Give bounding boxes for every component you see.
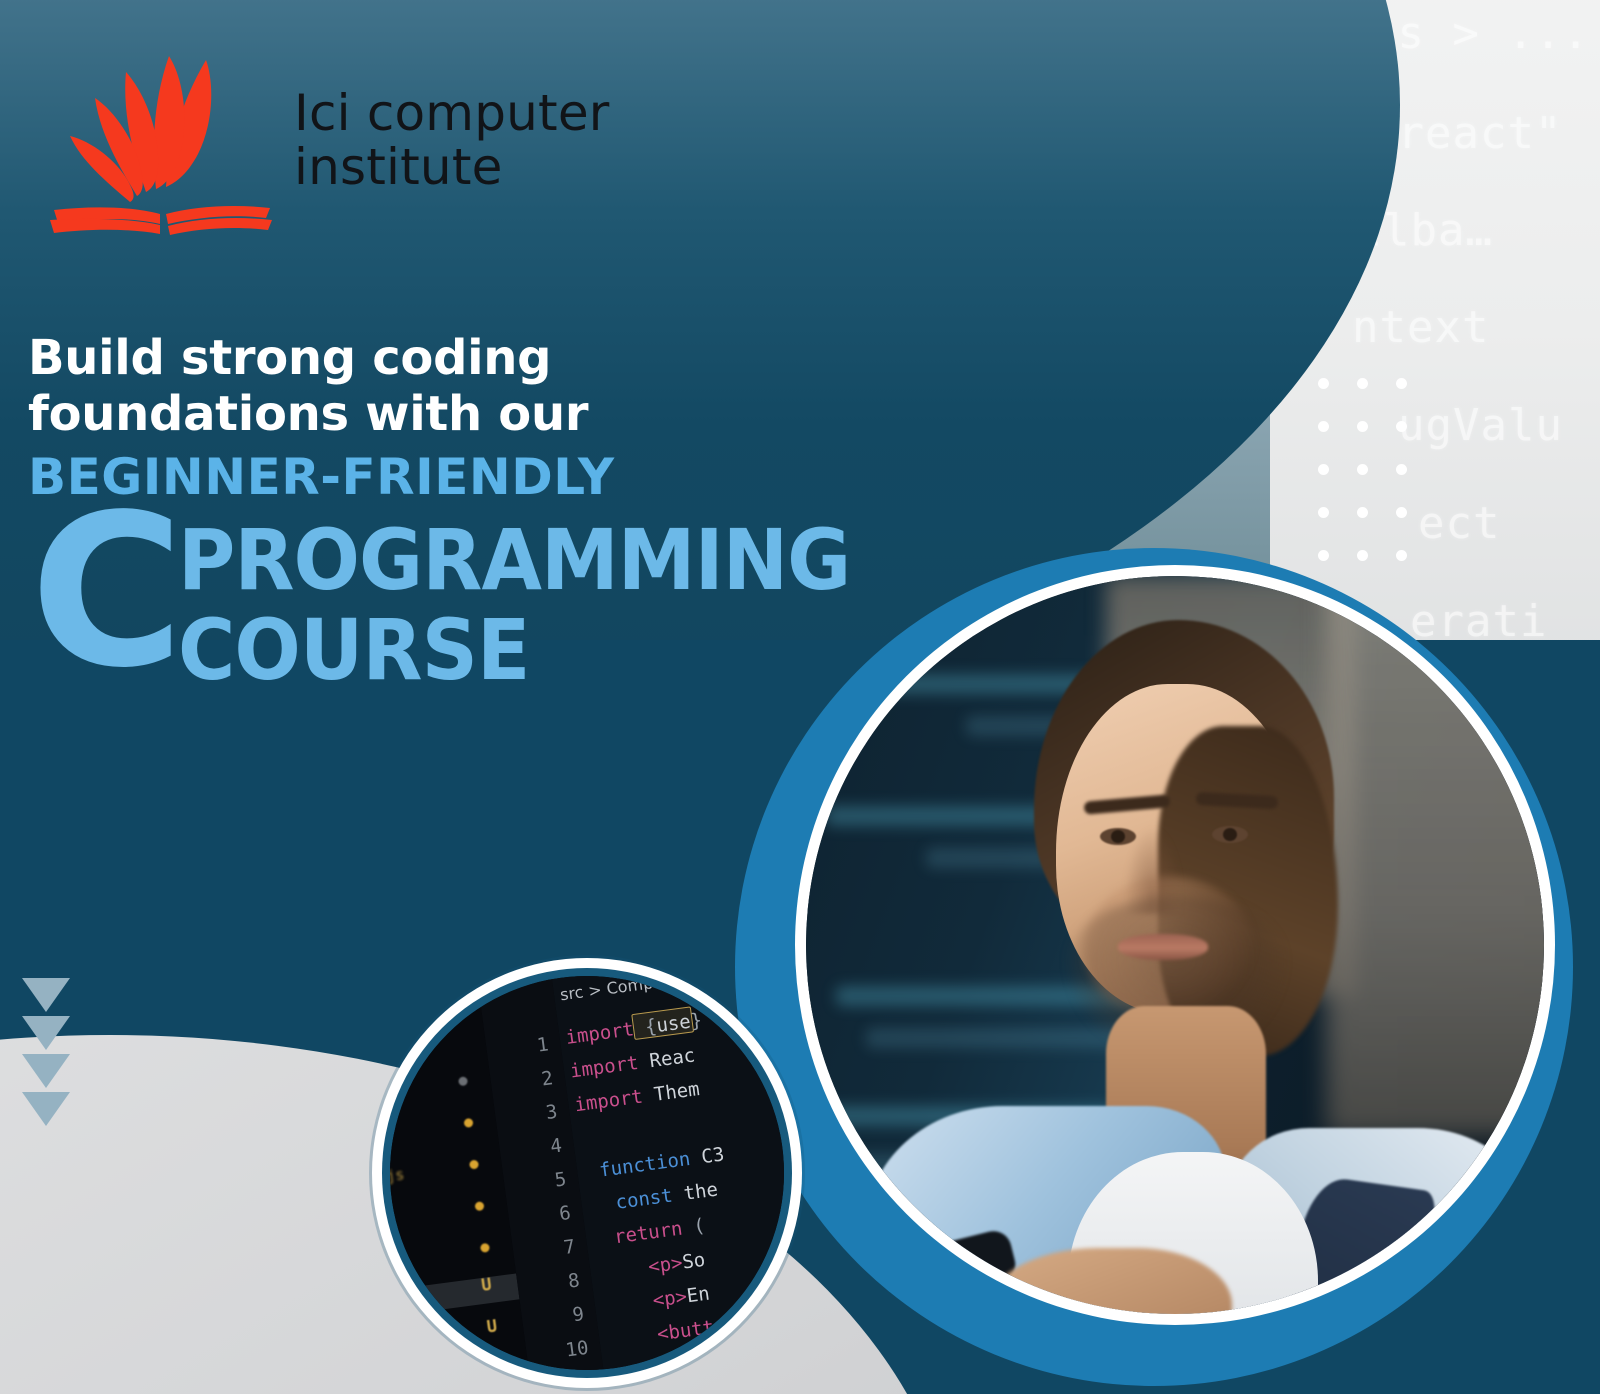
dot-grid-dot [1318,464,1329,475]
editor-breadcrumb[interactable]: src > Components > C3 > [559,976,771,1004]
brand-name-line2: institute [294,140,610,194]
code-line-6: const the [614,1179,719,1214]
bg-code-line-4: ntext [1352,302,1489,353]
book-flame-logo-icon [38,42,288,237]
chevron-down-arrow [22,1092,70,1126]
poster-canvas: dex.js > ... "react" allba… ntext ugValu… [0,0,1600,1394]
dot-grid-dot [1396,421,1407,432]
line-number-6: 6 [558,1202,572,1225]
course-title-word-2: COURSE [178,606,850,696]
dot-grid-dot [1357,550,1368,561]
line-number-8: 8 [567,1269,581,1292]
headline-line-1: Build strong coding [28,330,615,386]
course-title-block: C PROGRAMMING COURSE [30,508,901,696]
code-line-5: function C3 [598,1143,726,1181]
line-number-4: 4 [549,1135,563,1158]
brand-name: Ici computer institute [294,86,610,194]
dot-grid-dot [1318,421,1329,432]
dot-grid-dot [1396,550,1407,561]
headline-line-2: foundations with our [28,386,615,442]
course-title-letter: C [30,508,174,676]
bg-code-line-6: ect [1418,498,1500,549]
brand-logo: Ici computer institute [38,42,610,237]
course-title-word-1: PROGRAMMING [178,516,850,606]
code-line-1: import {use} from [564,1002,760,1049]
dot-grid-dot [1396,378,1407,389]
code-line-9: <p>So [647,1249,707,1278]
dot-grid-dot [1318,550,1329,561]
line-number-9: 9 [571,1303,585,1326]
dot-grid-dot [1357,464,1368,475]
dot-grid-dot [1318,507,1329,518]
line-number-1: 1 [536,1033,550,1056]
brand-name-line1: Ici computer [294,86,610,140]
dot-grid-dot [1357,507,1368,518]
photo-person-mouth [1118,934,1208,960]
code-line-10: <p>En [651,1283,711,1312]
photo-person-eye-right [1212,826,1248,843]
hero-photo [806,576,1544,1314]
code-line-2: import Reac [569,1044,697,1082]
photo-wall-panel-b [1326,576,1544,1136]
code-editor-circle: U U M M js js sx 1 2 3 4 5 6 7 8 9 10 [390,976,784,1370]
dot-grid-dot [1357,421,1368,432]
line-number-2: 2 [540,1067,554,1090]
code-line-11: <butt [656,1316,716,1345]
dot-grid-dot [1357,378,1368,389]
dot-grid-dot [1396,507,1407,518]
code-line-3: import Them [573,1078,701,1116]
git-status-u-2: U [486,1317,499,1338]
line-number-5: 5 [553,1168,567,1191]
code-line-12: Cli [680,1350,717,1370]
code-line-7: return ( [613,1215,707,1249]
dot-grid-dot [1318,378,1329,389]
line-number-3: 3 [545,1101,559,1124]
dot-grid-dot [1396,464,1407,475]
chevron-down-arrow [22,1016,70,1050]
line-number-7: 7 [562,1236,576,1259]
chevron-down-arrow [22,1054,70,1088]
chevron-down-arrow [22,978,70,1012]
bg-code-line-5: ugValu [1398,400,1563,451]
line-number-10: 10 [564,1337,590,1362]
